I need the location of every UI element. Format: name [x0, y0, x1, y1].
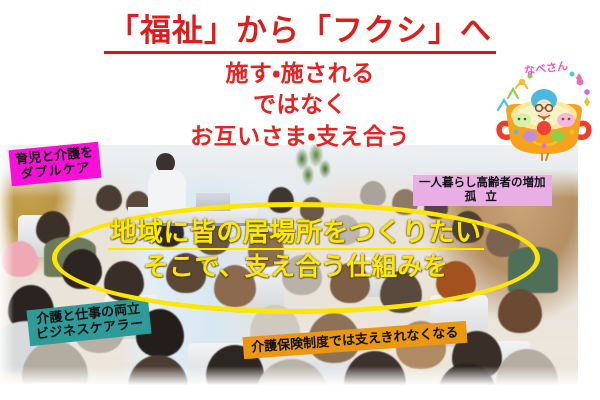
slide-canvas: 「福祉」から「フクシ」へ 施す・施される ではなく お互いさま・支え合う 育児と…	[0, 0, 600, 400]
photo-presenter	[148, 153, 188, 211]
page-title: 「福祉」から「フクシ」へ	[104, 14, 496, 54]
photo-audience-head	[166, 253, 206, 293]
photo-audience-body	[4, 383, 108, 388]
photo-audience-head	[330, 263, 370, 303]
photo-audience-head	[104, 261, 144, 301]
photo-audience-head	[438, 363, 496, 388]
photo-railing	[150, 223, 270, 226]
photo-audience-head	[128, 355, 188, 388]
label-elderly-alone-line-1: 一人暮らし高齢者の増加	[419, 177, 546, 191]
photo-potted-plant	[292, 145, 332, 191]
label-elderly-alone-line-2: 孤 立	[419, 191, 546, 205]
photo-audience-head	[436, 261, 476, 301]
photo-audience-head	[196, 221, 230, 255]
photo-audience-head	[360, 181, 386, 207]
photo-audience-head	[452, 211, 484, 243]
photo-audience-body	[508, 247, 558, 293]
photo-audience-head	[96, 185, 122, 211]
photo-audience-head	[214, 265, 256, 307]
photo-audience-head	[2, 241, 38, 277]
photo-audience-head	[282, 255, 322, 295]
photo-audience-head	[268, 187, 294, 213]
nabe-san-pot-illustration	[492, 58, 596, 162]
label-elderly-alone: 一人暮らし高齢者の増加 孤 立	[413, 175, 552, 206]
photo-audience-head	[498, 289, 542, 333]
photo-audience-head	[380, 271, 422, 313]
photo-laptop-right	[196, 193, 230, 211]
photo-audience-head	[330, 215, 360, 245]
photo-audience-head	[62, 249, 102, 289]
photo-audience-head	[248, 231, 284, 267]
photo-audience-head	[300, 197, 324, 221]
